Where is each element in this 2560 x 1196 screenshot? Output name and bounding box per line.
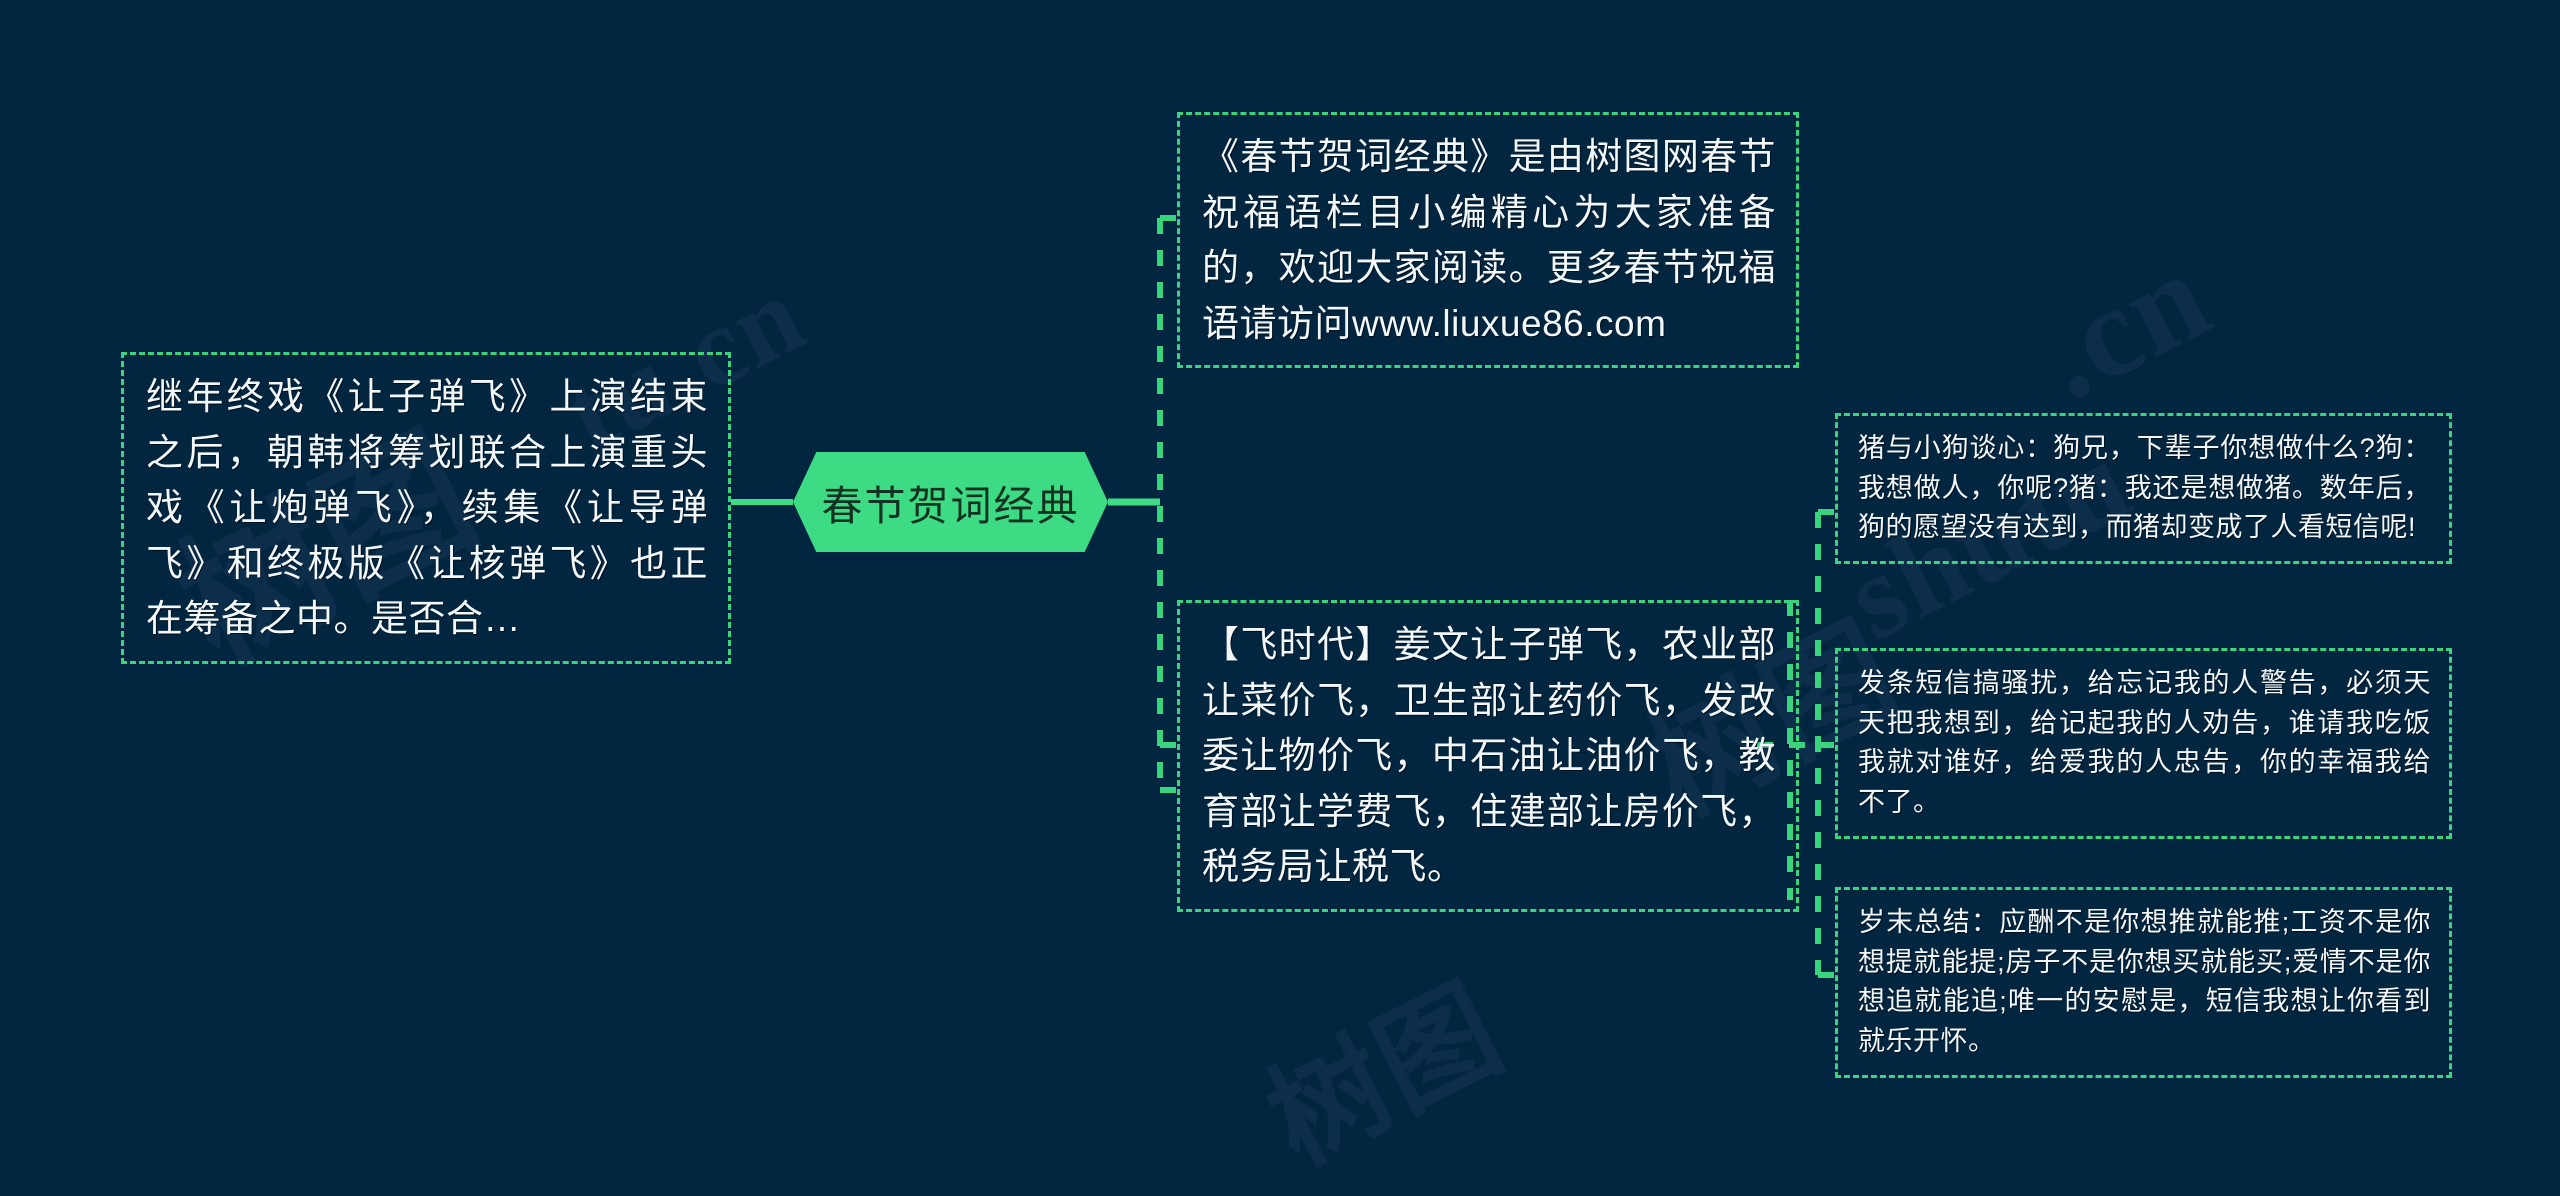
mindmap-node-intro[interactable]: 《春节贺词经典》是由树图网春节祝福语栏目小编精心为大家准备的，欢迎大家阅读。更多… [1177,112,1799,368]
node-era-text: 【飞时代】姜文让子弹飞，农业部让菜价飞，卫生部让药价飞，发改委让物价飞，中石油让… [1180,603,1796,909]
node-left-text: 继年终戏《让子弹飞》上演结束之后，朝韩将筹划联合上演重头戏《让炮弹飞》，续集《让… [124,355,728,661]
mindmap-center-node[interactable]: 春节贺词经典 [793,452,1108,552]
mindmap-node-sms[interactable]: 发条短信搞骚扰，给忘记我的人警告，必须天天把我想到，给记起我的人劝告，谁请我吃饭… [1835,648,2452,839]
node-intro-text: 《春节贺词经典》是由树图网春节祝福语栏目小编精心为大家准备的，欢迎大家阅读。更多… [1180,115,1796,365]
node-year-text: 岁末总结：应酬不是你想推就能推;工资不是你想提就能提;房子不是你想买就能买;爱情… [1838,890,2449,1075]
watermark-text: .cn [2015,220,2233,430]
mindmap-node-pig-dog[interactable]: 猪与小狗谈心：狗兄，下辈子你想做什么?狗：我想做人，你呢?猪：我还是想做猪。数年… [1835,413,2452,564]
mindmap-node-left[interactable]: 继年终戏《让子弹飞》上演结束之后，朝韩将筹划联合上演重头戏《让炮弹飞》，续集《让… [121,352,731,664]
node-sms-text: 发条短信搞骚扰，给忘记我的人警告，必须天天把我想到，给记起我的人劝告，谁请我吃饭… [1838,651,2449,836]
mindmap-canvas: tu.cn 树图 .cn shutu 树图 树图 继年终戏《让子弹飞》上演结束之… [0,0,2560,1186]
center-node-label: 春节贺词经典 [822,472,1080,532]
mindmap-node-era[interactable]: 【飞时代】姜文让子弹飞，农业部让菜价飞，卫生部让药价飞，发改委让物价飞，中石油让… [1177,600,1799,912]
watermark-text: 树图 [1234,935,1525,1196]
node-pig-text: 猪与小狗谈心：狗兄，下辈子你想做什么?狗：我想做人，你呢?猪：我还是想做猪。数年… [1838,416,2449,561]
mindmap-node-year-end[interactable]: 岁末总结：应酬不是你想推就能推;工资不是你想提就能提;房子不是你想买就能买;爱情… [1835,887,2452,1078]
